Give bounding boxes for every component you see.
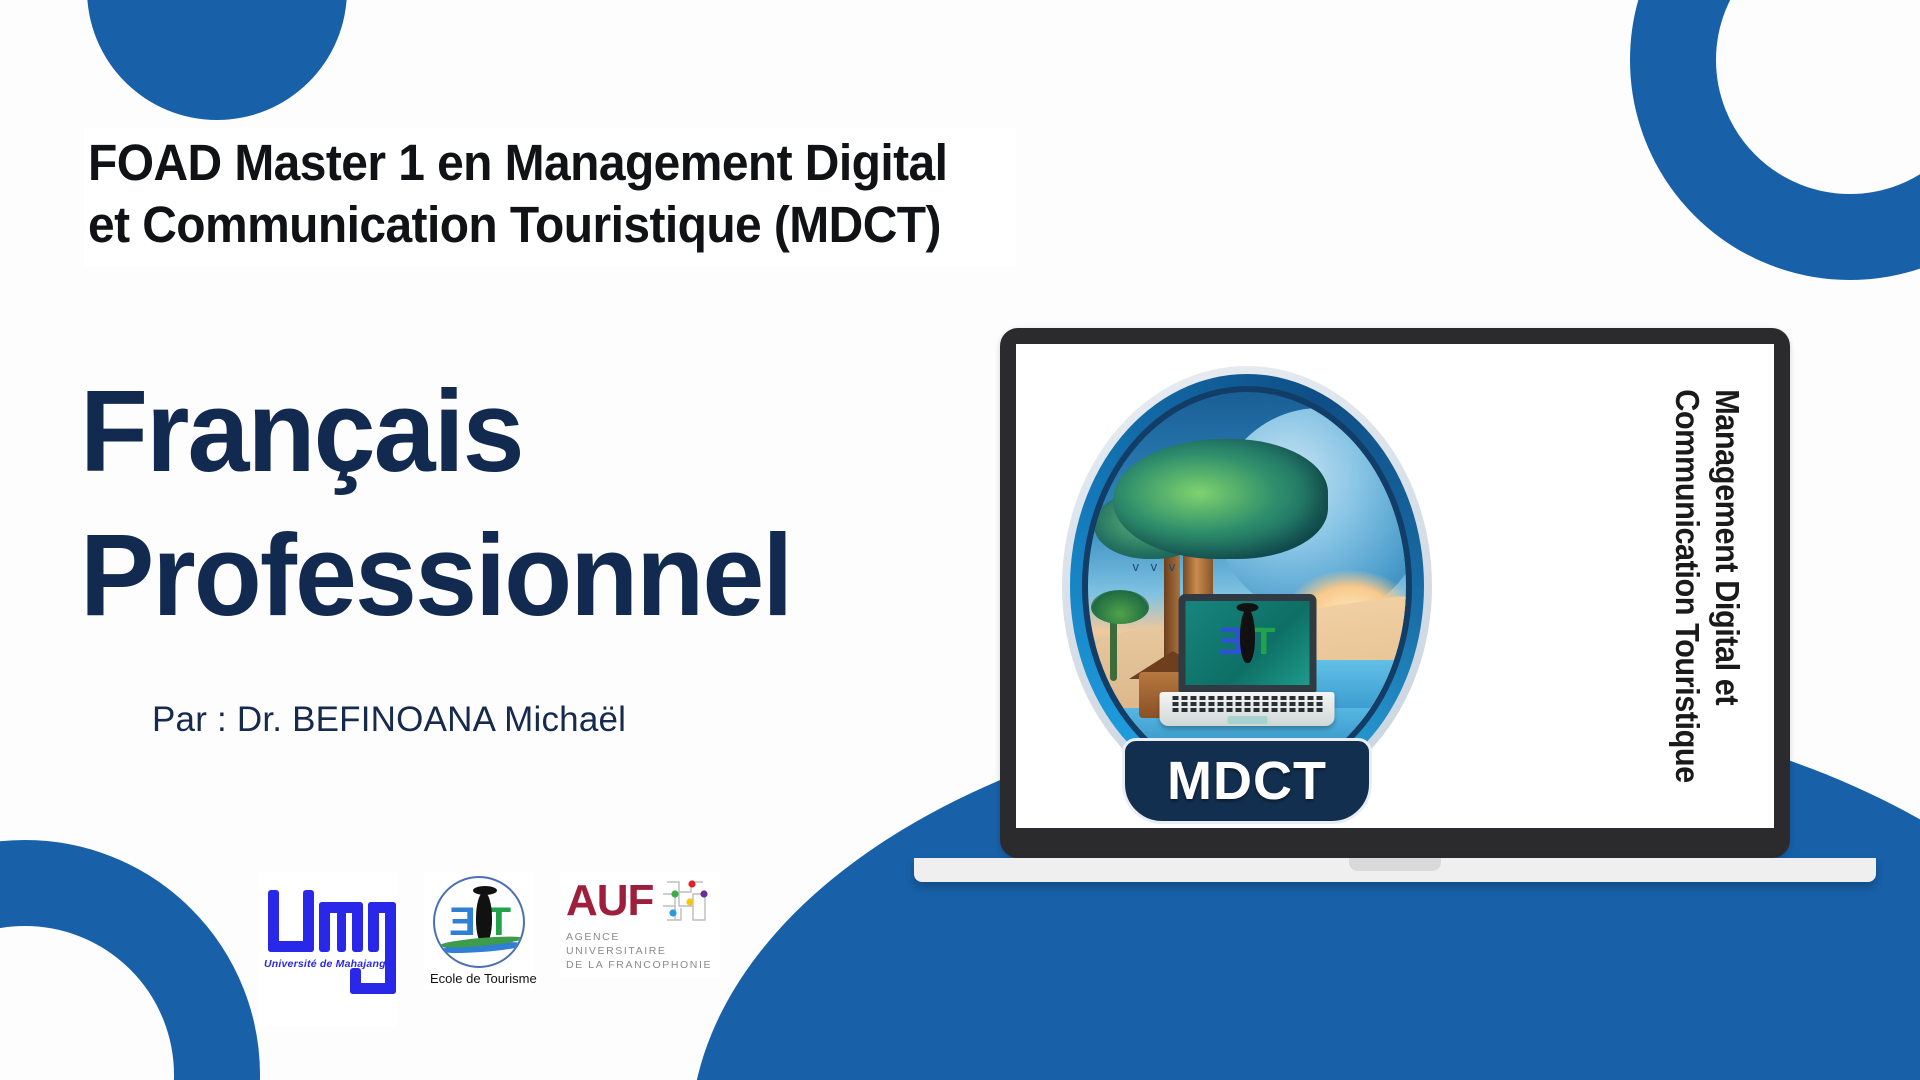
ecole-de-tourisme-mark-icon: E T [433, 876, 525, 968]
logo-universite-de-mahajanga: Université de Mahajanga [258, 872, 398, 1027]
laptop-base-bar [914, 858, 1876, 882]
laptop-mockup: v v v E T [1000, 328, 1800, 888]
ecole-de-tourisme-caption: Ecole de Tourisme [430, 971, 528, 986]
course-title-block: FOAD Master 1 en Management Digital et C… [84, 128, 1016, 266]
auf-mark-row: AUF [566, 876, 714, 926]
mdct-badge: v v v E T [1062, 366, 1432, 806]
heading-line-1: Français [80, 360, 791, 504]
mdct-logo-artwork: v v v E T [1016, 344, 1774, 828]
mdct-banner-text: MDCT [1167, 750, 1327, 812]
logo-ecole-de-tourisme: E T Ecole de Tourisme [424, 872, 534, 990]
scene-laptop-keyboard [1160, 692, 1335, 726]
birds-icon: v v v [1133, 559, 1180, 574]
baobab-canopy [1113, 439, 1328, 559]
laptop-notch [1349, 858, 1441, 871]
logo-auf: AUF AGENCE UNI [560, 872, 720, 977]
author-byline: Par : Dr. BEFINOANA Michaël [152, 700, 626, 740]
decorative-half-circle-top-left [87, 0, 347, 120]
footprint-icon [476, 892, 492, 944]
presentation-slide: FOAD Master 1 en Management Digital et C… [0, 0, 1920, 1080]
decorative-ring-top-right [1630, 0, 1920, 280]
laptop-lid: v v v E T [1000, 328, 1790, 858]
umg-mark-icon [264, 876, 396, 996]
umg-logo-caption: Université de Mahajanga [264, 958, 392, 970]
heading-line-2: Professionnel [80, 504, 791, 648]
scene-et-letter-t: T [1252, 621, 1275, 664]
page-title: Français Professionnel [80, 360, 821, 648]
course-title: FOAD Master 1 en Management Digital et C… [88, 132, 947, 256]
scene-footprint-icon [1240, 609, 1255, 663]
scene-laptop-trackpad [1227, 716, 1267, 724]
mdct-vertical-line-1: Management Digital et [1708, 389, 1746, 783]
network-nodes-icon [659, 876, 711, 926]
auf-wordmark: AUF [566, 879, 653, 923]
decorative-ring-bottom-left [0, 840, 260, 1080]
mdct-vertical-caption: Management Digital et Communication Tour… [1668, 374, 1746, 797]
auf-caption: AGENCE UNIVERSITAIRE DE LA FRANCOPHONIE [566, 930, 714, 973]
scene-laptop-icon: E T [1160, 594, 1335, 726]
mdct-vertical-line-2: Communication Touristique [1668, 389, 1706, 783]
badge-scene-illustration: v v v E T [1088, 392, 1406, 780]
partner-logos: Université de Mahajanga E T Ecole de Tou… [258, 872, 720, 1027]
mdct-banner: MDCT [1122, 738, 1372, 824]
laptop-screen: v v v E T [1016, 344, 1774, 828]
laptop-base [1000, 858, 1790, 888]
palm-fronds-icon [1091, 590, 1149, 624]
scene-laptop-lid: E T [1178, 594, 1316, 692]
scene-laptop-screen: E T [1185, 601, 1309, 685]
